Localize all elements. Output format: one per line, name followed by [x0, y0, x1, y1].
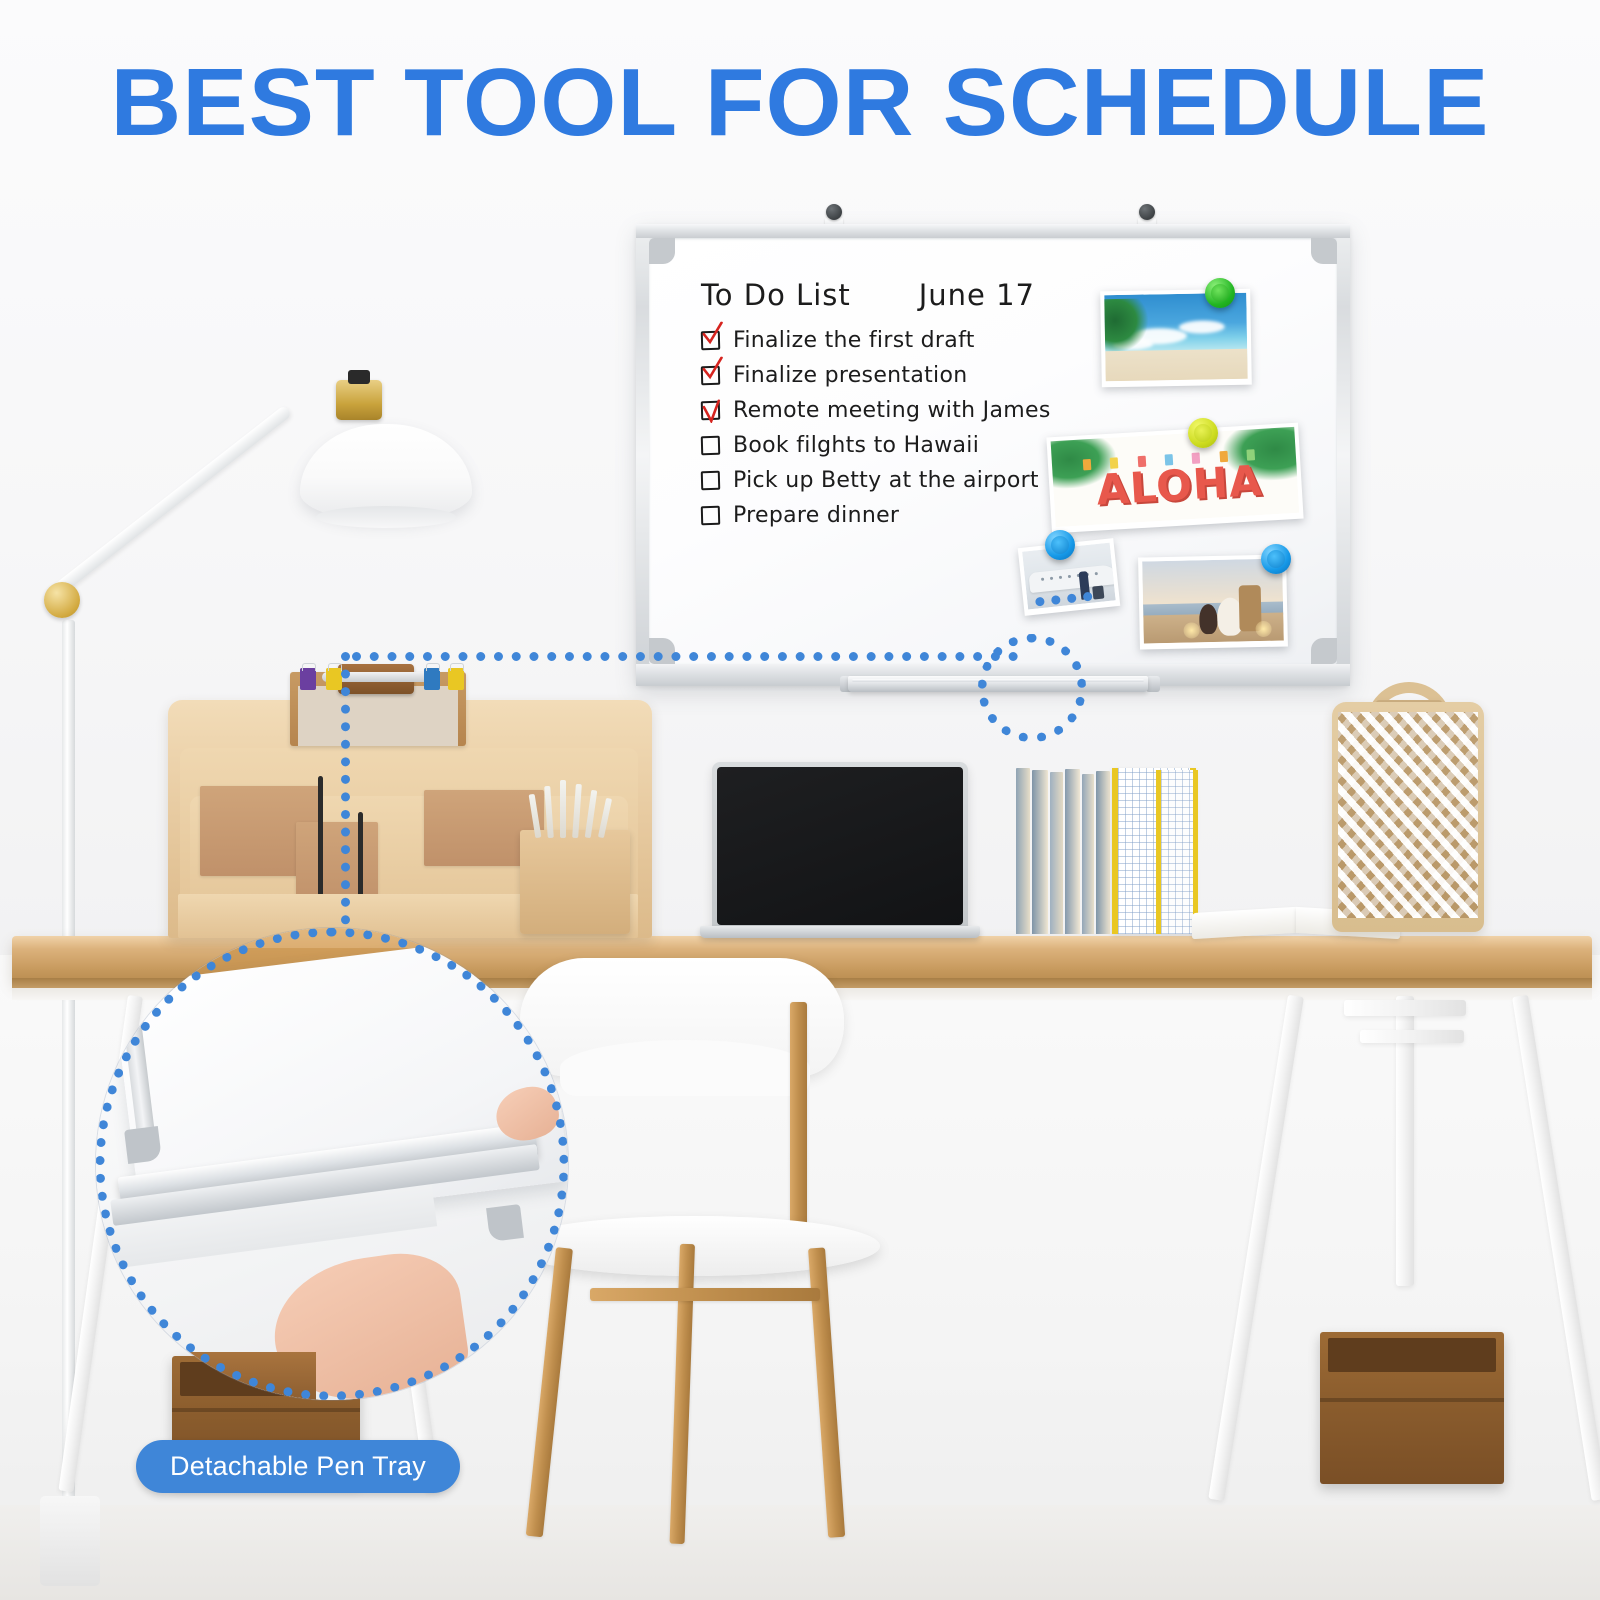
- checkbox-empty-icon[interactable]: [701, 506, 720, 525]
- pencil-cup: [520, 830, 630, 934]
- red-check-icon: [702, 357, 725, 382]
- mount-screw-icon: [1139, 204, 1155, 220]
- feature-badge: Detachable Pen Tray: [136, 1440, 460, 1493]
- binder-clip-yellow: [448, 668, 464, 690]
- todo-item[interactable]: Finalize the first draft: [701, 328, 1081, 353]
- magnified-frame-corner: [486, 1204, 524, 1242]
- todo-item[interactable]: Book filghts to Hawaii: [701, 433, 1081, 458]
- todo-item[interactable]: Finalize presentation: [701, 363, 1081, 388]
- green-magnet[interactable]: [1205, 278, 1235, 308]
- lamp-socket: [336, 380, 382, 420]
- checkbox-checked-icon[interactable]: [701, 401, 720, 420]
- basket-body: [1332, 702, 1484, 932]
- checkbox-empty-icon[interactable]: [701, 436, 720, 455]
- frame-corner: [649, 238, 675, 264]
- red-check-icon: [702, 399, 725, 424]
- red-check-icon: [702, 322, 725, 347]
- wooden-crate-right: [1320, 1332, 1504, 1484]
- chair-back-gap: [560, 1040, 810, 1096]
- frame-corner: [1311, 238, 1337, 264]
- lamp-pole: [62, 620, 75, 1500]
- whiteboard-frame: To Do List June 17 Finalize the first dr…: [636, 224, 1350, 686]
- scene-root: BEST TOOL FOR SCHEDULE To Do: [0, 0, 1600, 1600]
- frame-top-rail: [636, 224, 1350, 238]
- todo-list-heading: To Do List: [701, 278, 851, 312]
- lamp-joint: [44, 582, 80, 618]
- todo-item[interactable]: Prepare dinner: [701, 503, 1081, 528]
- callout-line-vertical: [341, 652, 350, 942]
- binder-clip-yellow: [326, 668, 342, 690]
- pen-tray-endcap: [1146, 676, 1160, 692]
- frame-corner: [1311, 638, 1337, 664]
- lime-magnet[interactable]: [1188, 418, 1218, 448]
- photo-image: ALOHA: [1051, 427, 1300, 527]
- todo-item-label: Finalize presentation: [733, 363, 967, 388]
- todo-date: June 17: [919, 278, 1035, 312]
- checkbox-checked-icon[interactable]: [701, 366, 720, 385]
- checkbox-checked-icon[interactable]: [701, 331, 720, 350]
- laptop-base: [700, 926, 980, 938]
- lamp-foot: [40, 1496, 100, 1586]
- todo-item[interactable]: Pick up Betty at the airport: [701, 468, 1081, 493]
- aloha-banner-photo[interactable]: ALOHA: [1046, 423, 1303, 534]
- blue-magnet-left[interactable]: [1045, 530, 1075, 560]
- photo-image: [1142, 559, 1284, 644]
- callout-circle-small: [978, 634, 1086, 742]
- todo-notes: To Do List June 17 Finalize the first dr…: [701, 278, 1081, 538]
- laptop-screen: [712, 762, 968, 930]
- todo-item-label: Book filghts to Hawaii: [733, 433, 979, 458]
- chair-post: [790, 1002, 807, 1238]
- todo-item-label: Remote meeting with James: [733, 398, 1051, 423]
- binder-clip-purple: [300, 668, 316, 690]
- pen-tray-magnifier: [96, 928, 568, 1400]
- callout-line-horizontal: [352, 652, 1018, 661]
- binder-clip-blue: [424, 668, 440, 690]
- whiteboard-surface[interactable]: To Do List June 17 Finalize the first dr…: [649, 238, 1337, 664]
- floor: [0, 1505, 1600, 1600]
- mount-screw-icon: [826, 204, 842, 220]
- todo-item[interactable]: Remote meeting with James: [701, 398, 1081, 423]
- chair-stretcher: [590, 1288, 820, 1301]
- todo-item-label: Prepare dinner: [733, 503, 899, 528]
- todo-item-label: Finalize the first draft: [733, 328, 975, 353]
- todo-item-label: Pick up Betty at the airport: [733, 468, 1039, 493]
- blue-magnet-right[interactable]: [1261, 544, 1291, 574]
- checkbox-empty-icon[interactable]: [701, 471, 720, 490]
- page-title: BEST TOOL FOR SCHEDULE: [0, 48, 1600, 158]
